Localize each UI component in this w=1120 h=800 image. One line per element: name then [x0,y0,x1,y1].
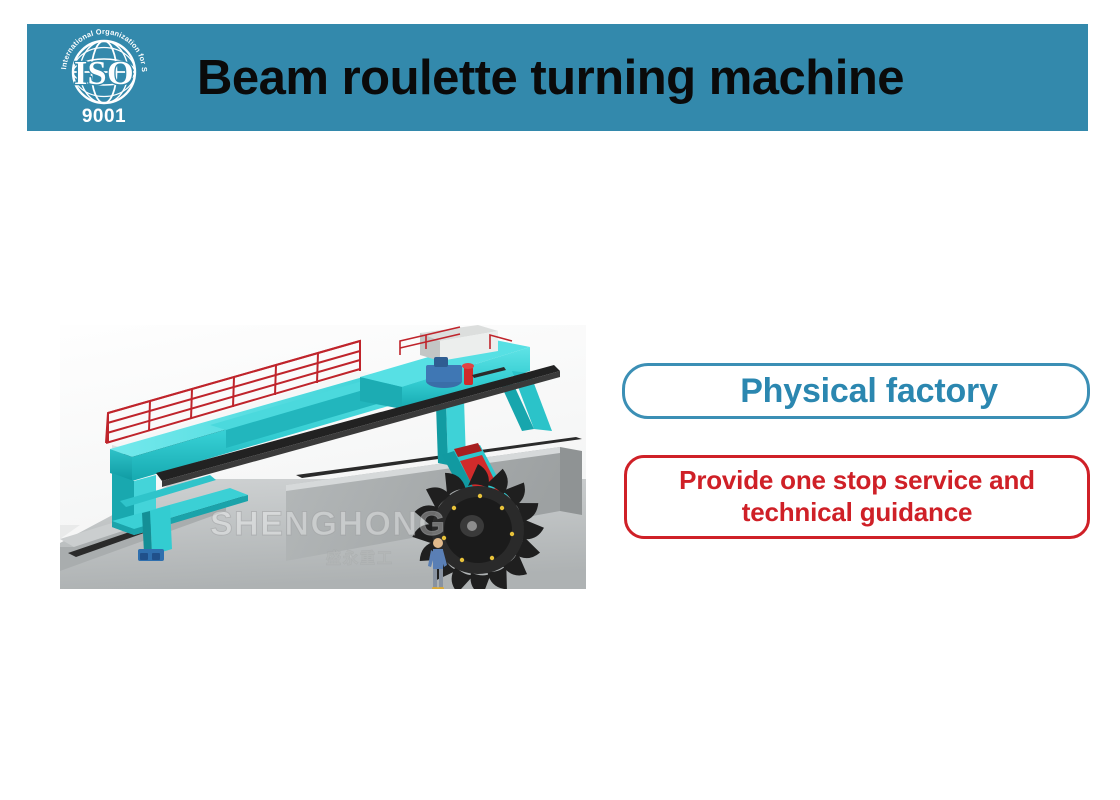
callout-one-stop-service-label: Provide one stop service and technical g… [627,465,1087,528]
callout-physical-factory[interactable]: Physical factory [622,363,1090,419]
svg-text:盛永重工: 盛永重工 [326,549,394,567]
header-banner: International Organization for Standardi… [27,24,1088,131]
product-photo: SHENGHONG 盛永重工 [60,325,586,589]
callout-one-stop-service[interactable]: Provide one stop service and technical g… [624,455,1090,539]
iso-9001-globe-logo: International Organization for Standardi… [50,26,158,130]
page-title: Beam roulette turning machine [197,50,904,106]
svg-text:ISO: ISO [74,55,134,92]
svg-text:9001: 9001 [82,106,126,127]
svg-text:SHENGHONG: SHENGHONG [210,505,446,543]
callout-physical-factory-label: Physical factory [714,372,998,411]
slide-page: International Organization for Standardi… [0,0,1120,800]
